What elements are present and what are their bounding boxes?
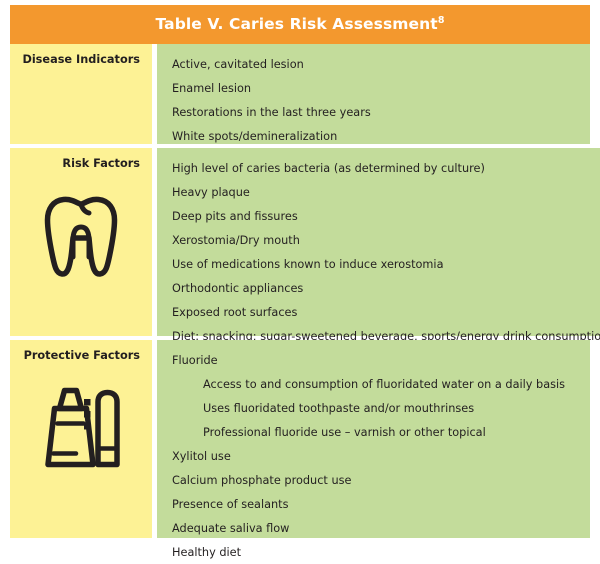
list-item: Uses fluoridated toothpaste and/or mouth… [172, 396, 584, 420]
caries-risk-assessment-table: Table V. Caries Risk Assessment8 Disease… [10, 5, 590, 542]
section-protective-factors: Protective Factors [10, 336, 590, 538]
list-item: Heavy plaque [172, 180, 600, 204]
list-item: Orthodontic appliances [172, 276, 600, 300]
section-content-cell: Fluoride Access to and consumption of fl… [152, 340, 590, 538]
section-content-cell: Active, cavitated lesion Enamel lesion R… [152, 44, 590, 144]
table-header: Table V. Caries Risk Assessment8 [10, 5, 590, 44]
list-item: Professional fluoride use – varnish or o… [172, 420, 584, 444]
list-item: Restorations in the last three years [172, 100, 584, 124]
list-item: Xylitol use [172, 444, 584, 468]
page-title: Table V. Caries Risk Assessment8 [155, 16, 444, 33]
list-item: Fluoride [172, 348, 584, 372]
list-item: Deep pits and fissures [172, 204, 600, 228]
list-item: Access to and consumption of fluoridated… [172, 372, 584, 396]
section-label-risk-factors: Risk Factors [10, 156, 152, 172]
list-item: Calcium phosphate product use [172, 468, 584, 492]
tooth-icon [10, 194, 152, 280]
section-label-protective-factors: Protective Factors [10, 348, 152, 364]
list-item: High level of caries bacteria (as determ… [172, 156, 600, 180]
section-risk-factors: Risk Factors High level of caries bacter… [10, 144, 590, 336]
list-item: Healthy diet [172, 540, 584, 564]
toothpaste-toothbrush-icon [10, 382, 152, 472]
section-content-cell: High level of caries bacteria (as determ… [152, 148, 600, 336]
section-label-disease-indicators: Disease Indicators [10, 52, 152, 68]
table-body: Disease Indicators Active, cavitated les… [10, 44, 590, 542]
list-item: Active, cavitated lesion [172, 52, 584, 76]
list-item: Use of medications known to induce xeros… [172, 252, 600, 276]
section-disease-indicators: Disease Indicators Active, cavitated les… [10, 44, 590, 144]
list-item: Enamel lesion [172, 76, 584, 100]
section-label-cell: Risk Factors [10, 148, 152, 336]
list-item: Exposed root surfaces [172, 300, 600, 324]
list-item: Presence of sealants [172, 492, 584, 516]
list-item: White spots/demineralization [172, 124, 584, 148]
list-item: Xerostomia/Dry mouth [172, 228, 600, 252]
section-label-cell: Protective Factors [10, 340, 152, 538]
table-title-text: Table V. Caries Risk Assessment [155, 15, 437, 33]
list-item: Adequate saliva flow [172, 516, 584, 540]
section-label-cell: Disease Indicators [10, 44, 152, 144]
table-title-footnote-superscript: 8 [438, 15, 445, 26]
